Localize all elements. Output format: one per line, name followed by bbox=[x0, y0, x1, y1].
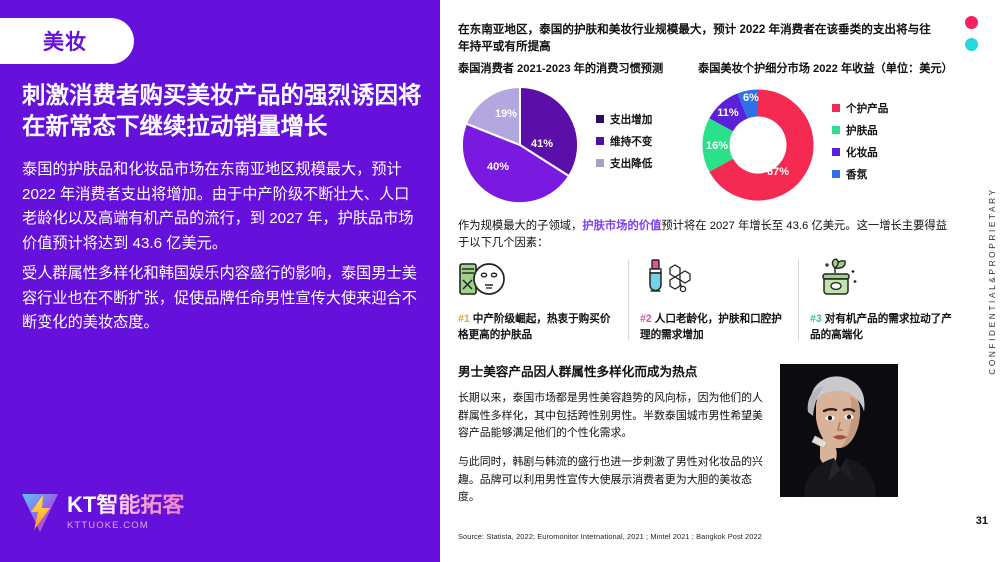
factor-number-3: #3 bbox=[810, 313, 822, 325]
factor-label-2: 人口老龄化，护肤和口腔护理的需求增加 bbox=[640, 313, 782, 341]
legend-item: 维持不变 bbox=[596, 134, 652, 149]
lightning-bolt-logo-icon bbox=[20, 492, 60, 534]
serum-dropper-icon bbox=[640, 258, 696, 300]
mid-statement: 作为规模最大的子领域，护肤市场的价值预计将在 2027 年增长至 43.6 亿美… bbox=[458, 218, 958, 252]
chart-beauty-segments: 泰国美妆个护细分市场 2022 年收益（单位：美元） 67% 1 bbox=[698, 62, 988, 206]
legend-label: 个护产品 bbox=[846, 101, 888, 116]
confidential-watermark: CONFIDENTIAL&PROPRIETARY bbox=[987, 187, 997, 375]
legend-swatch bbox=[596, 115, 604, 123]
factor-item-1: #1 中产阶级崛起，热衷于购买价格更高的护肤品 bbox=[458, 258, 628, 344]
category-pill-label: 美妆 bbox=[43, 26, 87, 56]
chart-consumer-spending: 泰国消费者 2021-2023 年的消费习惯预测 41% 40% 19% bbox=[458, 62, 710, 206]
factors-list: #1 中产阶级崛起，热衷于购买价格更高的护肤品 bbox=[458, 258, 968, 344]
category-pill: 美妆 bbox=[0, 18, 134, 64]
factor-text-1: #1 中产阶级崛起，热衷于购买价格更高的护肤品 bbox=[458, 312, 614, 344]
factor-label-1: 中产阶级崛起，热衷于购买价格更高的护肤品 bbox=[458, 313, 610, 341]
donut-legend: 个护产品 护肤品 化妆品 香氛 bbox=[832, 101, 888, 189]
lead-statement: 在东南亚地区，泰国的护肤和美妆行业规模最大，预计 2022 年消费者在该垂类的支… bbox=[458, 22, 938, 56]
factor-number-1: #1 bbox=[458, 313, 470, 325]
donut-label-0: 67% bbox=[767, 166, 789, 178]
source-citation: Source: Statista, 2022; Euromonitor Inte… bbox=[458, 532, 762, 541]
page-title: 刺激消费者购买美妆产品的强烈诱因将在新常态下继续拉动销量增长 bbox=[22, 80, 422, 143]
logo-text: KT智能拓客 bbox=[67, 494, 184, 516]
dot-pink-icon bbox=[965, 16, 978, 29]
legend-label: 护肤品 bbox=[846, 123, 878, 138]
legend-swatch bbox=[832, 148, 840, 156]
pie-legend: 支出增加 维持不变 支出降低 bbox=[596, 112, 652, 178]
legend-label: 支出增加 bbox=[610, 112, 652, 127]
male-beauty-model-photo bbox=[780, 364, 898, 497]
legend-swatch bbox=[596, 159, 604, 167]
pie-label-1: 40% bbox=[487, 161, 509, 173]
donut-chart-graphic: 67% 16% 11% 6% bbox=[698, 84, 826, 206]
pie-label-2: 19% bbox=[495, 108, 517, 120]
decorative-dots bbox=[965, 16, 978, 60]
bottom-section: 男士美容产品因人群属性多样化而成为热点 长期以来，泰国市场都是男性美容趋势的风向… bbox=[458, 364, 958, 518]
chart-title-donut: 泰国美妆个护细分市场 2022 年收益（单位：美元） bbox=[698, 62, 988, 78]
pie-label-0: 41% bbox=[531, 138, 553, 150]
factor-label-3: 对有机产品的需求拉动了产品的高端化 bbox=[810, 313, 952, 341]
mid-text-highlight: 护肤市场的价值 bbox=[582, 220, 661, 232]
mid-text-before: 作为规模最大的子领域， bbox=[458, 220, 582, 232]
page-number: 31 bbox=[976, 515, 988, 527]
chart-title-pie: 泰国消费者 2021-2023 年的消费习惯预测 bbox=[458, 62, 710, 78]
legend-item: 化妆品 bbox=[832, 145, 888, 160]
legend-item: 护肤品 bbox=[832, 123, 888, 138]
donut-label-2: 11% bbox=[717, 107, 739, 119]
left-paragraph-1: 泰国的护肤品和化妆品市场在东南亚地区规模最大，预计 2022 年消费者支出将增加… bbox=[22, 158, 420, 257]
legend-item: 个护产品 bbox=[832, 101, 888, 116]
left-paragraph-2: 受人群属性多样化和韩国娱乐内容盛行的影响，泰国男士美容行业也在不断扩张，促使品牌… bbox=[22, 262, 420, 336]
legend-item: 支出降低 bbox=[596, 156, 652, 171]
legend-swatch bbox=[596, 137, 604, 145]
legend-label: 香氛 bbox=[846, 167, 867, 182]
pie-chart-graphic: 41% 40% 19% bbox=[458, 84, 590, 206]
legend-swatch bbox=[832, 170, 840, 178]
factor-text-2: #2 人口老龄化，护肤和口腔护理的需求增加 bbox=[640, 312, 784, 344]
organic-cream-jar-icon bbox=[810, 258, 866, 300]
legend-label: 支出降低 bbox=[610, 156, 652, 171]
factor-number-2: #2 bbox=[640, 313, 652, 325]
left-panel: 美妆 刺激消费者购买美妆产品的强烈诱因将在新常态下继续拉动销量增长 泰国的护肤品… bbox=[0, 0, 440, 562]
legend-label: 化妆品 bbox=[846, 145, 878, 160]
factor-item-3: #3 对有机产品的需求拉动了产品的高端化 bbox=[798, 258, 968, 344]
factor-text-3: #3 对有机产品的需求拉动了产品的高端化 bbox=[810, 312, 954, 344]
legend-item: 支出增加 bbox=[596, 112, 652, 127]
dot-cyan-icon bbox=[965, 38, 978, 51]
bottom-heading: 男士美容产品因人群属性多样化而成为热点 bbox=[458, 364, 766, 381]
donut-label-3: 6% bbox=[743, 92, 759, 104]
brand-logo: KT智能拓客 KTTUOKE.COM bbox=[20, 492, 184, 534]
donut-label-1: 16% bbox=[706, 140, 728, 152]
bottom-paragraph-2: 与此同时，韩剧与韩流的盛行也进一步刺激了男性对化妆品的兴趣。品牌可以利用男性宣传… bbox=[458, 454, 766, 507]
factor-item-2: #2 人口老龄化，护肤和口腔护理的需求增加 bbox=[628, 258, 798, 344]
legend-item: 香氛 bbox=[832, 167, 888, 182]
legend-swatch bbox=[832, 104, 840, 112]
bottom-paragraph-1: 长期以来，泰国市场都是男性美容趋势的风向标，因为他们的人群属性多样化，其中包括跨… bbox=[458, 390, 766, 443]
logo-domain: KTTUOKE.COM bbox=[67, 520, 184, 531]
slide-root: 美妆 刺激消费者购买美妆产品的强烈诱因将在新常态下继续拉动销量增长 泰国的护肤品… bbox=[0, 0, 1000, 562]
legend-swatch bbox=[832, 126, 840, 134]
right-content: 在东南亚地区，泰国的护肤和美妆行业规模最大，预计 2022 年消费者在该垂类的支… bbox=[440, 0, 1000, 562]
face-mask-sheet-icon bbox=[458, 258, 514, 300]
bottom-text-col: 男士美容产品因人群属性多样化而成为热点 长期以来，泰国市场都是男性美容趋势的风向… bbox=[458, 364, 780, 518]
legend-label: 维持不变 bbox=[610, 134, 652, 149]
